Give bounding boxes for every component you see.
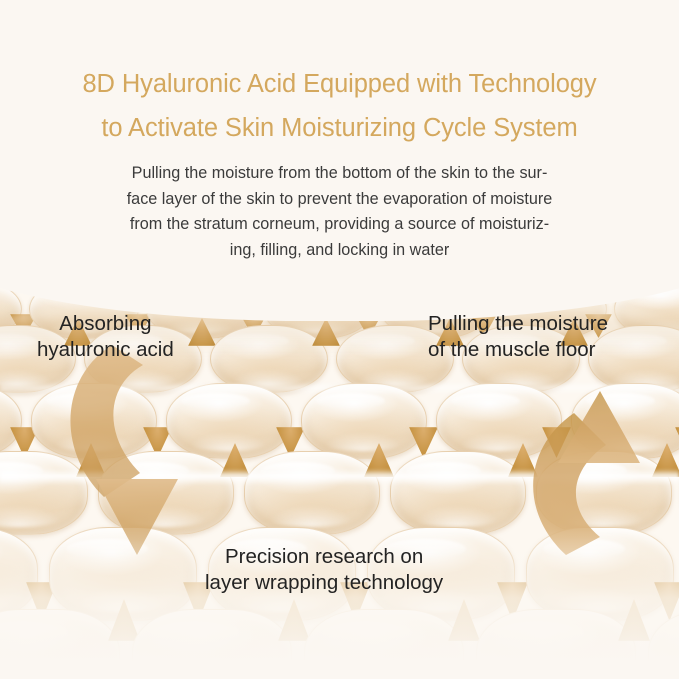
label-pulling-line-2: of the muscle floor bbox=[428, 337, 608, 363]
capsule-illustration: Absorbing hyaluronic acid Pulling the mo… bbox=[0, 283, 679, 679]
subtitle-line-1: Pulling the moisture from the bottom of … bbox=[68, 161, 611, 187]
label-absorbing-line-2: hyaluronic acid bbox=[37, 337, 174, 363]
title-line-2: to Activate Skin Moisturizing Cycle Syst… bbox=[20, 106, 659, 150]
label-precision-line-1: Precision research on bbox=[205, 544, 443, 570]
subtitle-line-2: face layer of the skin to prevent the ev… bbox=[68, 187, 611, 213]
header-section: 8D Hyaluronic Acid Equipped with Technol… bbox=[0, 0, 679, 283]
label-absorbing-line-1: Absorbing bbox=[37, 311, 174, 337]
product-infographic: 8D Hyaluronic Acid Equipped with Technol… bbox=[0, 0, 679, 679]
subtitle-paragraph: Pulling the moisture from the bottom of … bbox=[68, 161, 611, 263]
title-line-1: 8D Hyaluronic Acid Equipped with Technol… bbox=[20, 62, 659, 106]
label-precision-research: Precision research on layer wrapping tec… bbox=[205, 544, 443, 596]
label-absorbing-hyaluronic-acid: Absorbing hyaluronic acid bbox=[37, 311, 174, 363]
page-title: 8D Hyaluronic Acid Equipped with Technol… bbox=[20, 62, 659, 150]
label-pulling-line-1: Pulling the moisture bbox=[428, 311, 608, 337]
left-down-arrow-icon bbox=[70, 345, 178, 555]
subtitle-line-4: ing, filling, and locking in water bbox=[68, 238, 611, 264]
label-precision-line-2: layer wrapping technology bbox=[205, 570, 443, 596]
subtitle-line-3: from the stratum corneum, providing a so… bbox=[68, 212, 611, 238]
label-pulling-moisture: Pulling the moisture of the muscle floor bbox=[428, 311, 608, 363]
